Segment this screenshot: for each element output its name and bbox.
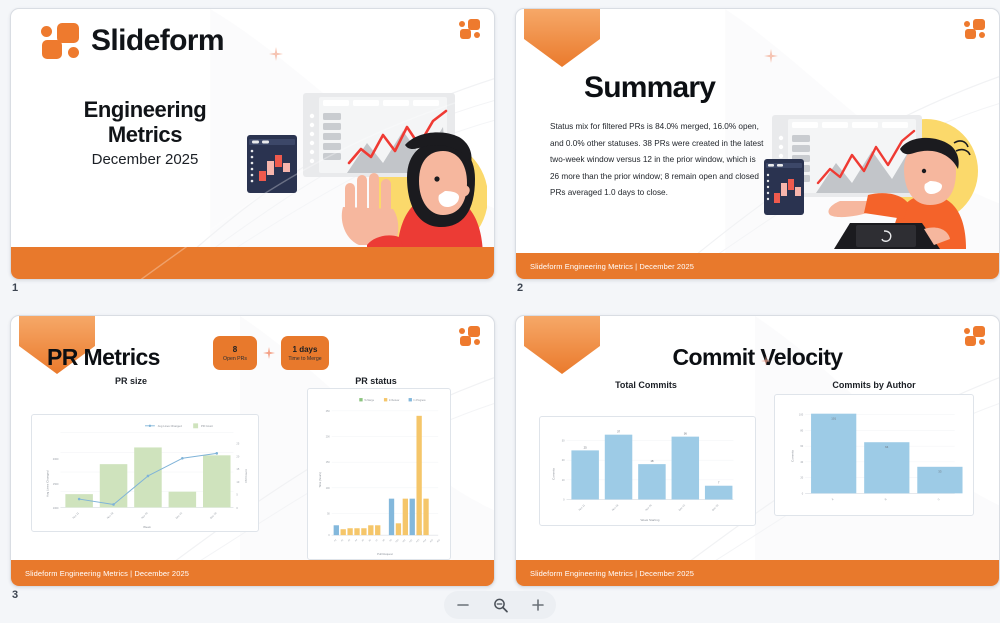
svg-text:0: 0 [563,497,565,501]
svg-text:50: 50 [327,512,330,515]
chart-pr-status[interactable]: 0 50 100 150 200 250 Time (hours) Pull R… [307,388,451,560]
svg-text:C: C [936,497,940,501]
slide-cell-4: Commit Velocity Total Commits Commits by… [515,315,1000,598]
svg-text:36: 36 [684,432,688,436]
svg-text:1500: 1500 [53,482,59,486]
svg-text:#12: #12 [409,539,414,544]
svg-text:1000: 1000 [53,506,59,510]
svg-text:200: 200 [326,436,331,439]
search-zoom-icon [492,597,509,614]
svg-text:Nov 18: Nov 18 [106,511,115,520]
svg-text:Time (hours): Time (hours) [318,472,322,488]
svg-text:PR Count: PR Count [201,424,213,428]
svg-text:#5: #5 [362,539,366,543]
slide-3-footer-band: Slideform Engineering Metrics | December… [11,560,494,586]
svg-text:100: 100 [326,487,331,490]
svg-text:#2: #2 [341,539,345,543]
plus-icon [530,597,546,613]
chart-title-pr-size: PR size [41,376,221,386]
minus-icon [455,597,471,613]
slide-cell-1: Slideform Engineering Metrics December 2… [10,8,495,291]
svg-text:250: 250 [326,410,331,413]
svg-text:#6: #6 [369,539,373,543]
svg-text:Nov 11: Nov 11 [577,503,586,512]
svg-text:Commits: Commits [552,467,556,479]
svg-text:0: 0 [236,506,238,510]
svg-text:15: 15 [236,467,239,471]
slide-1-title-block: Engineering Metrics December 2025 [29,97,261,168]
sparkle-icon [269,47,283,61]
svg-text:2000: 2000 [53,457,59,461]
corner-logo-icon [459,326,481,346]
chart-legend: To Merge In Review In Progress [359,398,426,402]
slide-4-title: Commit Velocity [516,344,999,371]
svg-text:10: 10 [562,478,565,482]
svg-text:0: 0 [802,491,804,495]
svg-text:Dec 09: Dec 09 [711,503,720,512]
chart-title-commits-by-author: Commits by Author [774,380,974,390]
hero-illustration [247,87,487,259]
svg-text:Dec 09: Dec 09 [209,511,218,520]
svg-text:#11: #11 [402,539,406,543]
kpi-open-prs[interactable]: 8 Open PRs [213,336,257,370]
svg-text:80: 80 [800,428,803,432]
svg-text:To Merge: To Merge [364,399,375,402]
svg-text:0: 0 [328,534,330,537]
zoom-toolbar[interactable] [444,591,556,619]
chart-title-pr-status: PR status [301,376,451,386]
svg-text:#9: #9 [389,539,393,543]
svg-text:150: 150 [326,461,331,464]
kpi-open-prs-label: Open PRs [223,356,247,362]
svg-text:30: 30 [562,439,565,443]
slide-3[interactable]: PR Metrics 8 Open PRs 1 days Time to Mer… [10,315,495,587]
slide-2-footer-text: Slideform Engineering Metrics | December… [516,262,694,271]
slide-2-body-text: Status mix for filtered PRs is 84.0% mer… [550,119,766,202]
kpi-time-to-merge-label: Time to Merge [288,356,321,362]
svg-text:40: 40 [800,460,803,464]
svg-text:Dec 02: Dec 02 [175,511,184,520]
svg-text:#13: #13 [416,539,421,544]
svg-text:In Review: In Review [389,399,400,402]
slide-1-footer-band [11,247,494,279]
svg-text:#16: #16 [437,539,442,544]
brand-lockup: Slideform [41,23,224,59]
svg-text:#14: #14 [423,539,428,544]
slide-1-title-line-2: Metrics [29,122,261,147]
slideform-logo-icon [41,23,81,59]
svg-text:In Progress: In Progress [414,399,427,402]
slide-3-footer-text: Slideform Engineering Metrics | December… [11,569,189,578]
svg-text:#8: #8 [383,539,387,543]
brand-name: Slideform [91,24,224,58]
slide-4-footer-text: Slideform Engineering Metrics | December… [516,569,694,578]
svg-text:Week Starting: Week Starting [640,518,659,522]
svg-text:20: 20 [236,454,239,458]
slide-cell-3: PR Metrics 8 Open PRs 1 days Time to Mer… [10,315,495,598]
chart-commits-by-author[interactable]: 101 64 33 0 20 40 60 80 100 Commits A B … [774,394,974,516]
corner-logo-icon [459,19,481,39]
svg-text:Nov 25: Nov 25 [644,503,653,512]
chart-pr-size[interactable]: 1000 1500 2000 0 5 10 15 20 25 Avg Lines… [31,414,259,532]
svg-text:100: 100 [799,413,804,417]
svg-text:10: 10 [236,480,239,484]
svg-text:Avg Lines Changed: Avg Lines Changed [158,424,182,428]
svg-text:Nov 25: Nov 25 [140,511,149,520]
svg-text:#3: #3 [348,539,352,543]
svg-text:101: 101 [831,417,836,421]
slide-number-1: 1 [12,282,18,294]
slide-cell-2: Summary Status mix for filtered PRs is 8… [515,8,1000,291]
svg-text:25: 25 [584,445,588,449]
svg-text:#1: #1 [334,539,338,543]
chart-title-total-commits: Total Commits [556,380,736,390]
svg-text:5: 5 [236,493,238,497]
svg-text:20: 20 [562,458,565,462]
svg-text:60: 60 [800,444,803,448]
corner-logo-icon [964,19,986,39]
slide-2-footer-band: Slideform Engineering Metrics | December… [516,253,999,279]
slide-1-title-line-1: Engineering [29,97,261,122]
slide-2-title: Summary [584,71,715,105]
svg-text:Week: Week [143,525,151,529]
corner-pennant [524,9,600,67]
kpi-open-prs-value: 8 [233,345,237,354]
chart-total-commits[interactable]: 25 37 18 36 7 0 10 20 30 Commits Week St… [539,416,756,526]
svg-text:B: B [883,497,887,501]
slide-3-title: PR Metrics [47,344,160,371]
zoom-reset-button[interactable] [492,597,509,614]
slide-number-3: 3 [12,589,18,601]
sparkle-icon [761,356,771,366]
svg-text:Nov 11: Nov 11 [71,511,80,520]
hero-illustration [764,109,994,249]
svg-text:18: 18 [650,459,654,463]
svg-text:PR Count: PR Count [244,469,248,482]
zoom-out-button[interactable] [455,597,471,613]
svg-text:Dec 02: Dec 02 [677,503,686,512]
kpi-time-to-merge[interactable]: 1 days Time to Merge [281,336,329,370]
slide-4-footer-band: Slideform Engineering Metrics | December… [516,560,999,586]
svg-text:#15: #15 [430,539,435,544]
svg-text:#10: #10 [395,539,400,544]
slide-2[interactable]: Summary Status mix for filtered PRs is 8… [515,8,1000,280]
svg-text:#4: #4 [355,539,359,543]
chart-legend: Avg Lines Changed PR Count [145,423,213,428]
svg-text:33: 33 [938,470,942,474]
slide-1[interactable]: Slideform Engineering Metrics December 2… [10,8,495,280]
slide-number-2: 2 [517,282,523,294]
svg-text:Commits: Commits [790,450,794,462]
kpi-time-to-merge-value: 1 days [293,345,318,354]
svg-text:#7: #7 [376,539,380,543]
zoom-in-button[interactable] [530,597,546,613]
svg-text:Avg Lines Changed: Avg Lines Changed [46,470,50,497]
sparkle-icon [263,347,275,359]
svg-text:25: 25 [236,441,239,445]
kpi-row: 8 Open PRs 1 days Time to Merge [213,336,329,370]
sparkle-icon [764,49,778,63]
corner-logo-icon [964,326,986,346]
svg-text:Pull Request: Pull Request [377,552,393,556]
svg-text:7: 7 [718,481,720,485]
slide-deck: Slideform Engineering Metrics December 2… [0,0,1000,623]
slide-1-subtitle: December 2025 [29,151,261,168]
svg-text:Nov 18: Nov 18 [611,503,620,512]
svg-text:20: 20 [800,476,803,480]
svg-text:A: A [830,497,834,501]
svg-text:37: 37 [617,430,621,434]
slide-4[interactable]: Commit Velocity Total Commits Commits by… [515,315,1000,587]
svg-text:64: 64 [885,445,889,449]
